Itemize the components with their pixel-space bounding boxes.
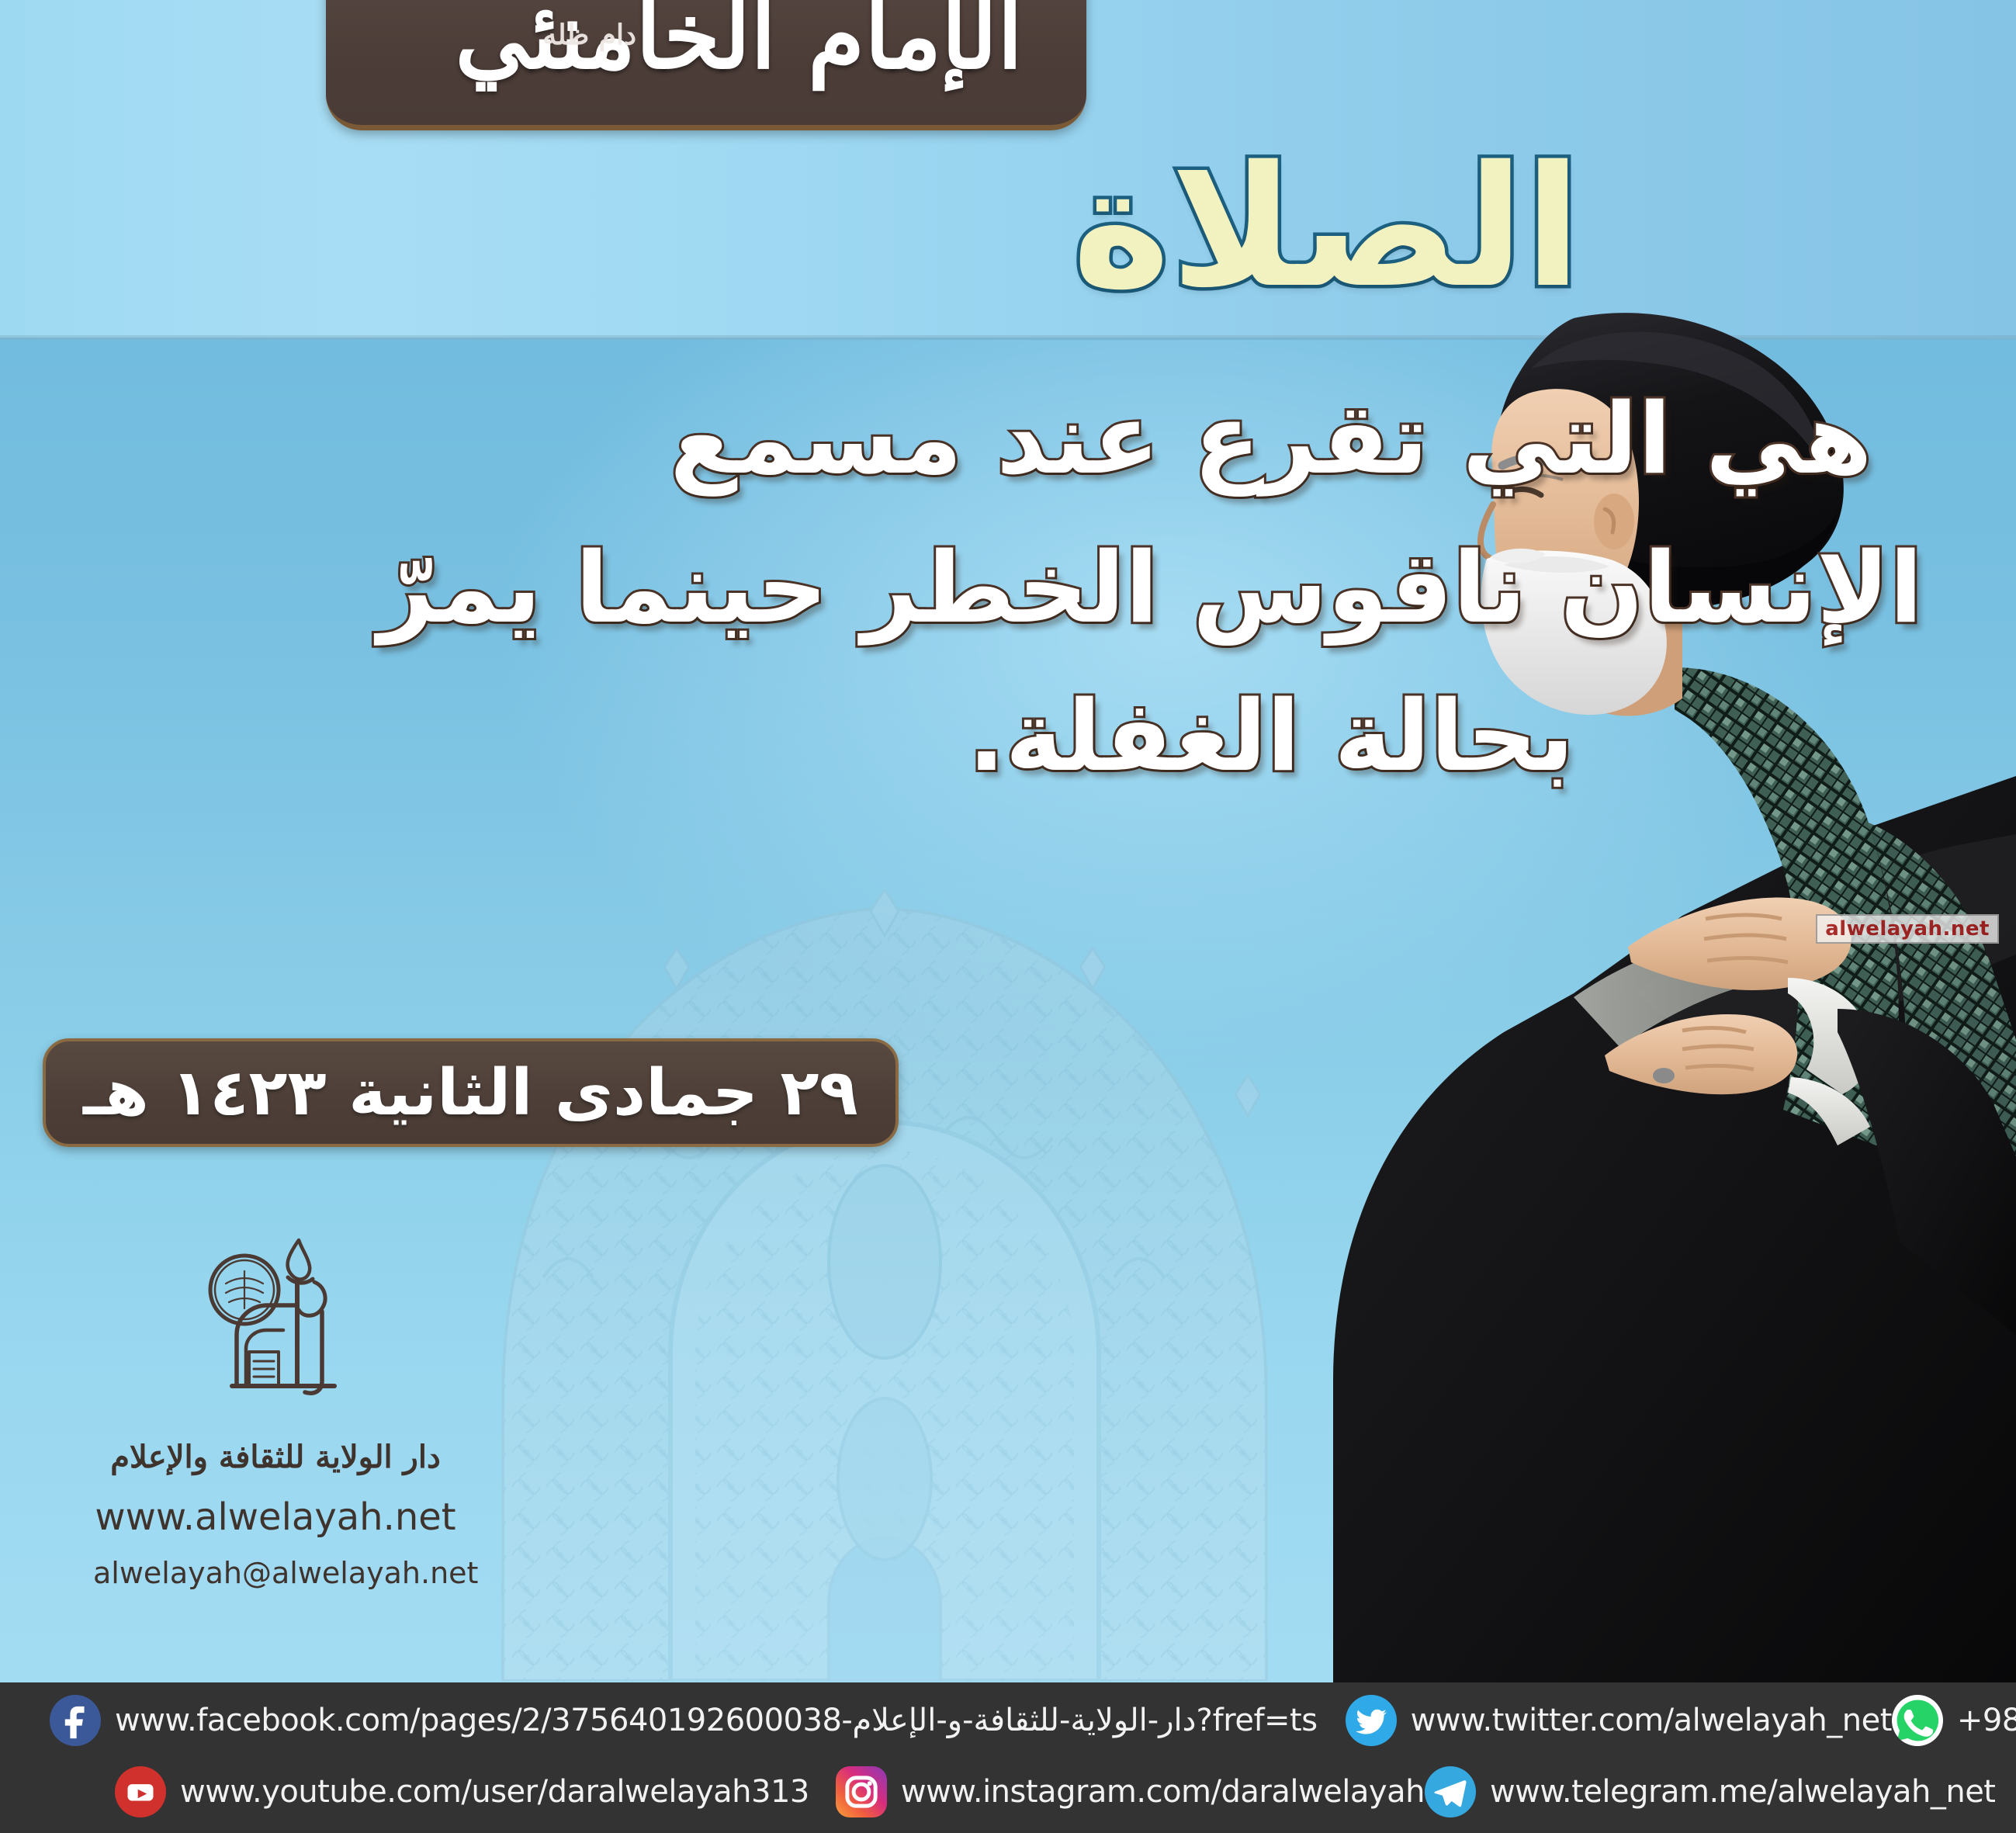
poster-canvas: الإمام الخامنئي دام ظله الصلاة هي التي ت… [0,0,2016,1833]
whatsapp-number: +989309269084 [1957,1703,2016,1738]
social-row-2: www.youtube.com/user/daralwelayah313 www… [0,1754,2016,1829]
brand-email[interactable]: alwelayah@alwelayah.net [93,1556,458,1590]
date-badge-label: ٢٩ جمادى الثانية ١٤٢٣ هـ [83,1056,858,1130]
social-link-instagram[interactable]: www.instagram.com/daralwelayah [836,1766,1425,1817]
social-row-1: www.facebook.com/pages/2/375640192600038… [0,1682,2016,1758]
whatsapp-icon [1892,1695,1943,1746]
quote-line-3: بحالة الغفلة. [619,662,1923,811]
date-badge: ٢٩ جمادى الثانية ١٤٢٣ هـ [43,1038,899,1147]
facebook-icon [50,1695,101,1746]
header-title: الإمام الخامنئي [455,0,1023,89]
social-link-youtube[interactable]: www.youtube.com/user/daralwelayah313 [115,1766,809,1817]
instagram-url: www.instagram.com/daralwelayah [901,1774,1425,1810]
telegram-url: www.telegram.me/alwelayah_net [1490,1774,1996,1810]
twitter-url: www.twitter.com/alwelayah_net [1411,1703,1892,1738]
brand-name: دار الولاية للثقافة والإعلام [93,1439,458,1475]
instagram-icon [836,1766,887,1817]
social-link-facebook[interactable]: www.facebook.com/pages/2/375640192600038… [50,1695,1318,1746]
youtube-url: www.youtube.com/user/daralwelayah313 [180,1774,809,1810]
page-title: الصلاة [1072,144,1581,310]
quote-block: هي التي تقرع عند مسمع الإنسان ناقوس الخط… [619,365,1923,811]
social-link-whatsapp[interactable]: +989309269084 [1892,1695,2016,1746]
facebook-url: www.facebook.com/pages/2/375640192600038… [115,1703,1318,1738]
social-link-twitter[interactable]: www.twitter.com/alwelayah_net [1346,1695,1892,1746]
alwelayah-logo-icon [93,1234,458,1412]
youtube-icon [115,1766,166,1817]
quote-line-1: هي التي تقرع عند مسمع [619,365,1923,514]
brand-block: دار الولاية للثقافة والإعلام www.alwelay… [93,1234,458,1590]
twitter-icon [1346,1695,1397,1746]
watermark-right: alwelayah.net [1816,914,1999,944]
quote-line-2: الإنسان ناقوس الخطر حينما يمرّ [619,514,1923,663]
social-footer: www.facebook.com/pages/2/375640192600038… [0,1682,2016,1833]
telegram-icon [1425,1766,1476,1817]
brand-website[interactable]: www.alwelayah.net [93,1495,458,1539]
header-plaque: الإمام الخامنئي دام ظله [326,0,1086,130]
social-link-telegram[interactable]: www.telegram.me/alwelayah_net [1425,1766,1996,1817]
header-honorific: دام ظله [542,19,636,51]
